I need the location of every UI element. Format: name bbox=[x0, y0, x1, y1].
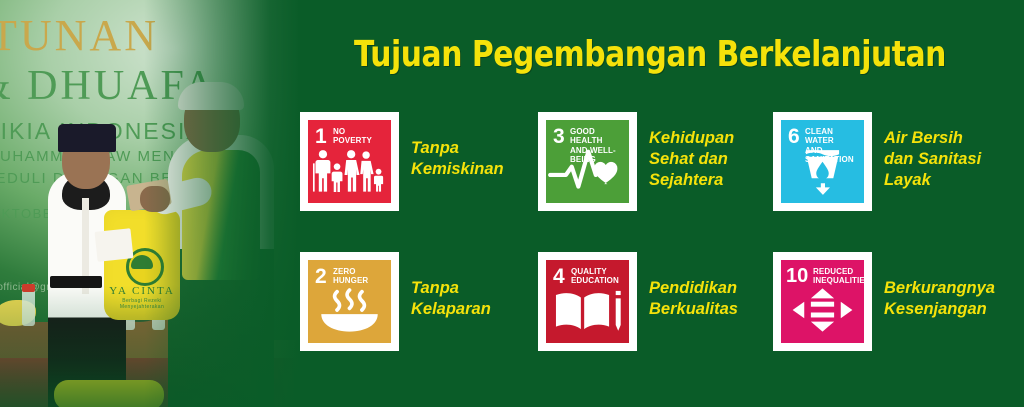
sdg-tile-3[interactable]: 3 GOOD HEALTH AND WELL-BEING bbox=[538, 112, 637, 211]
sdg-tile-6-inner: 6 CLEAN WATER AND SANITATION bbox=[781, 120, 864, 203]
sdg-goal-1[interactable]: 1 NO POVERTY bbox=[300, 112, 529, 211]
page-title: Tujuan Pegembangan Berkelanjutan bbox=[328, 34, 972, 75]
sdg-tile-4-inner: 4 QUALITY EDUCATION bbox=[546, 260, 629, 343]
sdg-tile-4[interactable]: 4 QUALITY EDUCATION bbox=[538, 252, 637, 351]
sdg-label-6: Air Bersih dan Sanitasi Layak bbox=[884, 112, 1002, 191]
sdg-goals-grid: 1 NO POVERTY bbox=[300, 112, 1024, 372]
sdg-tile-2[interactable]: 2 ZERO HUNGER bbox=[300, 252, 399, 351]
sdg-goal-3[interactable]: 3 GOOD HEALTH AND WELL-BEING Kehidupan bbox=[538, 112, 767, 211]
poster-canvas: TUNAN & DHUAFA DIKIA INDONESIA T MUHAMMA… bbox=[0, 0, 1024, 407]
sdg-tile-1-inner: 1 NO POVERTY bbox=[308, 120, 391, 203]
sdg-tile-3-inner: 3 GOOD HEALTH AND WELL-BEING bbox=[546, 120, 629, 203]
sdg-label-2: Tanpa Kelaparan bbox=[411, 252, 529, 320]
sdg-tile-6[interactable]: 6 CLEAN WATER AND SANITATION bbox=[773, 112, 872, 211]
sdg-goal-4[interactable]: 4 QUALITY EDUCATION bbox=[538, 252, 767, 351]
sdg-tile-10-inner: 10 REDUCED INEQUALITIES bbox=[781, 260, 864, 343]
four-arrows-equal-icon bbox=[781, 282, 864, 338]
sdg-label-10: Berkurangnya Kesenjangan bbox=[884, 252, 1002, 320]
sdg-label-4: Pendidikan Berkualitas bbox=[649, 252, 767, 320]
sdg-label-3: Kehidupan Sehat dan Sejahtera bbox=[649, 112, 767, 191]
sdg-tile-10[interactable]: 10 REDUCED INEQUALITIES bbox=[773, 252, 872, 351]
sdg-tile-1[interactable]: 1 NO POVERTY bbox=[300, 112, 399, 211]
heartbeat-heart-icon bbox=[546, 142, 629, 198]
sdg-goal-10[interactable]: 10 REDUCED INEQUALITIES bbox=[773, 252, 1002, 351]
steaming-bowl-icon bbox=[308, 282, 391, 338]
sdg-goal-6[interactable]: 6 CLEAN WATER AND SANITATION bbox=[773, 112, 1002, 211]
photo-bottom-fade bbox=[0, 0, 300, 407]
sdg-label-1: Tanpa Kemiskinan bbox=[411, 112, 529, 180]
family-group-icon bbox=[308, 142, 391, 198]
charity-donation-photo: TUNAN & DHUAFA DIKIA INDONESIA T MUHAMMA… bbox=[0, 0, 300, 407]
open-book-pencil-icon bbox=[546, 282, 629, 338]
sdg-goal-2[interactable]: 2 ZERO HUNGER bbox=[300, 252, 529, 351]
sdg-tile-2-inner: 2 ZERO HUNGER bbox=[308, 260, 391, 343]
water-glass-drop-icon bbox=[781, 142, 864, 198]
